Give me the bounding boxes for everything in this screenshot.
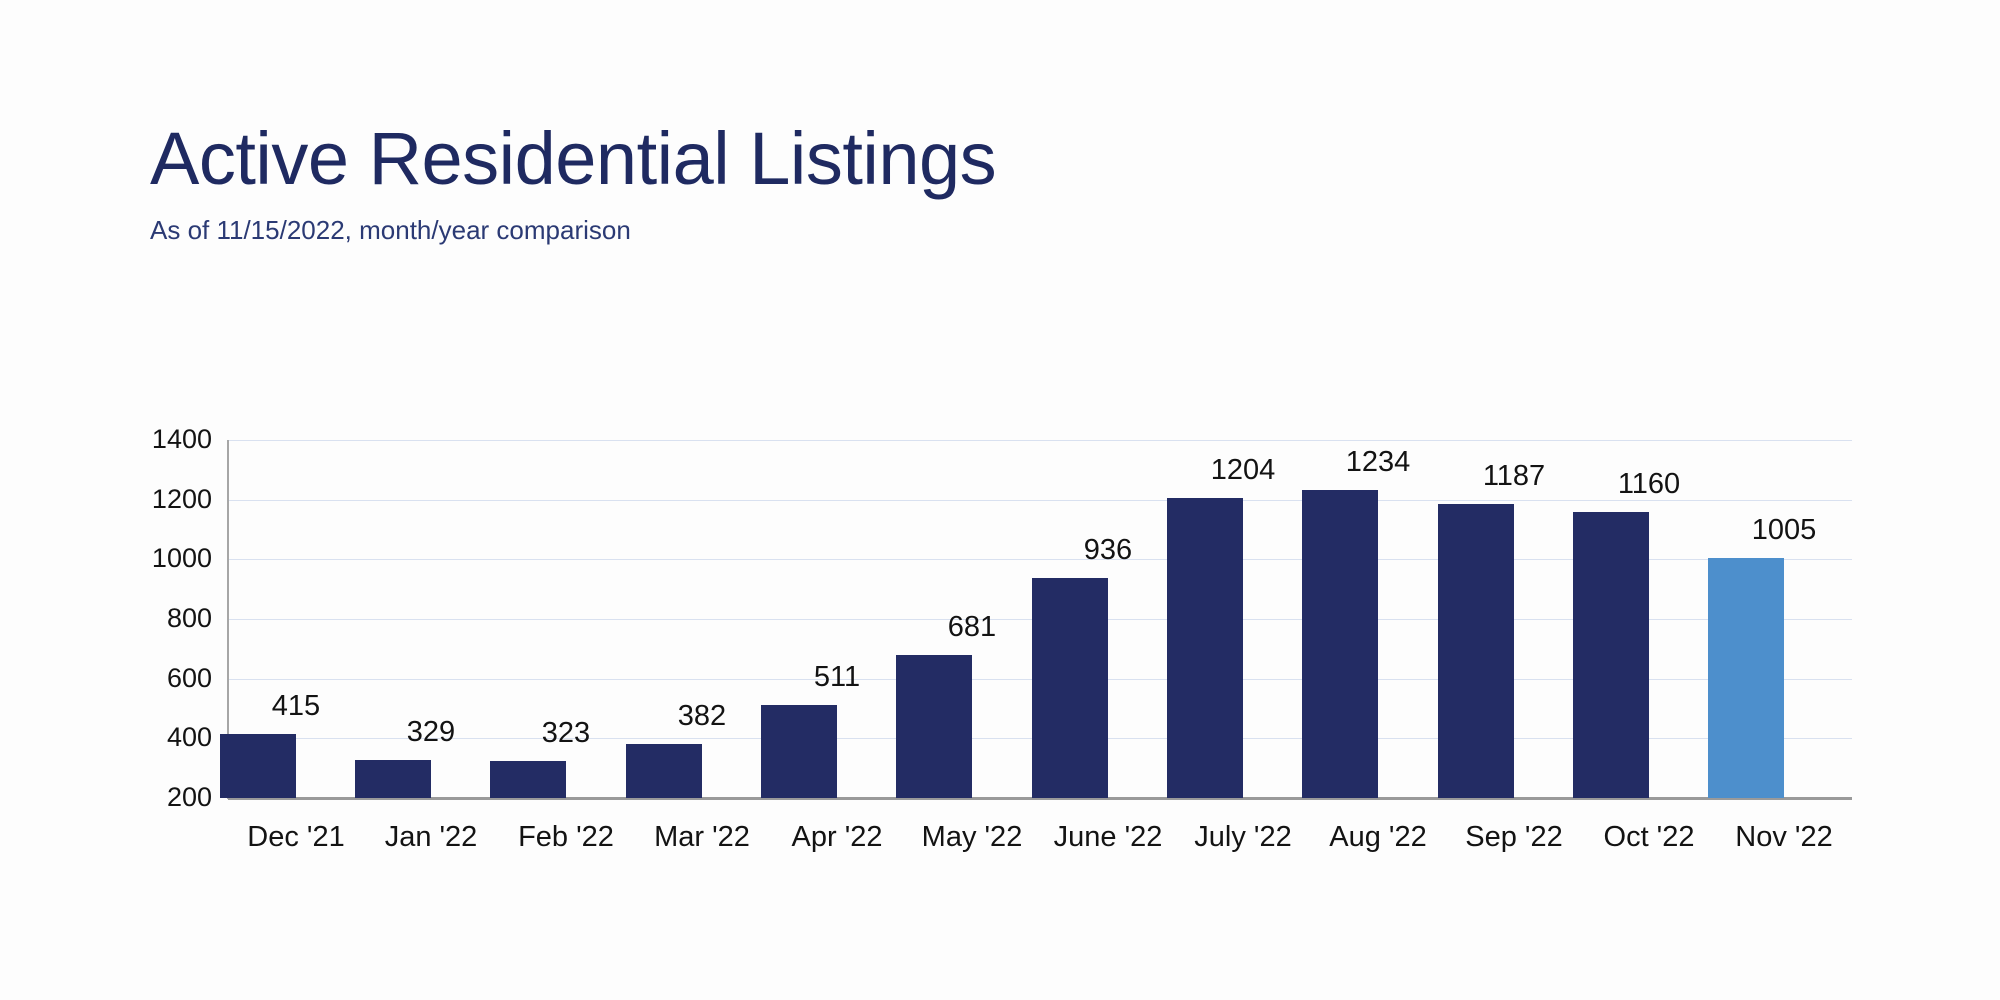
y-axis-tick-label: 400 [100,724,212,751]
y-axis-tick-label: 1000 [100,545,212,572]
x-axis-tick-label: July '22 [1194,820,1291,854]
x-axis-tick-label: Jan '22 [385,820,478,854]
y-axis-tick-label: 1400 [100,426,212,453]
bar-value-label: 936 [1084,536,1132,565]
bar-value-label: 1187 [1483,462,1545,491]
y-axis-tick-label: 600 [100,665,212,692]
bar[interactable] [490,761,566,798]
x-axis-tick-label: Sep '22 [1465,820,1562,854]
x-axis-tick-label: Feb '22 [518,820,614,854]
gridline [228,440,1852,441]
x-axis-tick-label: June '22 [1054,820,1163,854]
bar[interactable] [1708,558,1784,798]
bar-value-label: 1005 [1752,516,1817,545]
bar-value-label: 415 [272,692,320,721]
bar[interactable] [761,705,837,798]
bar-value-label: 681 [948,613,996,642]
y-axis-tick-label: 1200 [100,486,212,513]
gridline [228,500,1852,501]
bar[interactable] [1302,490,1378,798]
bar-value-label: 1204 [1211,456,1276,485]
bar[interactable] [896,655,972,798]
x-axis-tick-label: Apr '22 [792,820,883,854]
x-axis-tick-label: Oct '22 [1604,820,1695,854]
x-axis-tick-label: May '22 [922,820,1023,854]
bar[interactable] [1573,512,1649,798]
bar[interactable] [1438,504,1514,798]
bar[interactable] [1167,498,1243,798]
bar[interactable] [626,744,702,798]
x-axis-tick-label: Dec '21 [247,820,344,854]
x-axis-tick-label: Mar '22 [654,820,750,854]
y-axis-tick-label: 200 [100,784,212,811]
slide-canvas: Active Residential Listings As of 11/15/… [0,0,2000,1000]
x-axis-tick-label: Nov '22 [1735,820,1832,854]
bar[interactable] [355,760,431,798]
bar-chart: 200400600800100012001400 415329323382511… [0,0,2000,1000]
bar-value-label: 323 [542,719,590,748]
bar-value-label: 329 [407,718,455,747]
x-axis-tick-label: Aug '22 [1329,820,1426,854]
bar[interactable] [1032,578,1108,798]
bar[interactable] [220,734,296,798]
bar-value-label: 382 [678,702,726,731]
bar-value-label: 511 [814,663,860,692]
bar-value-label: 1234 [1346,448,1411,477]
bar-value-label: 1160 [1618,470,1680,499]
y-axis-tick-label: 800 [100,605,212,632]
